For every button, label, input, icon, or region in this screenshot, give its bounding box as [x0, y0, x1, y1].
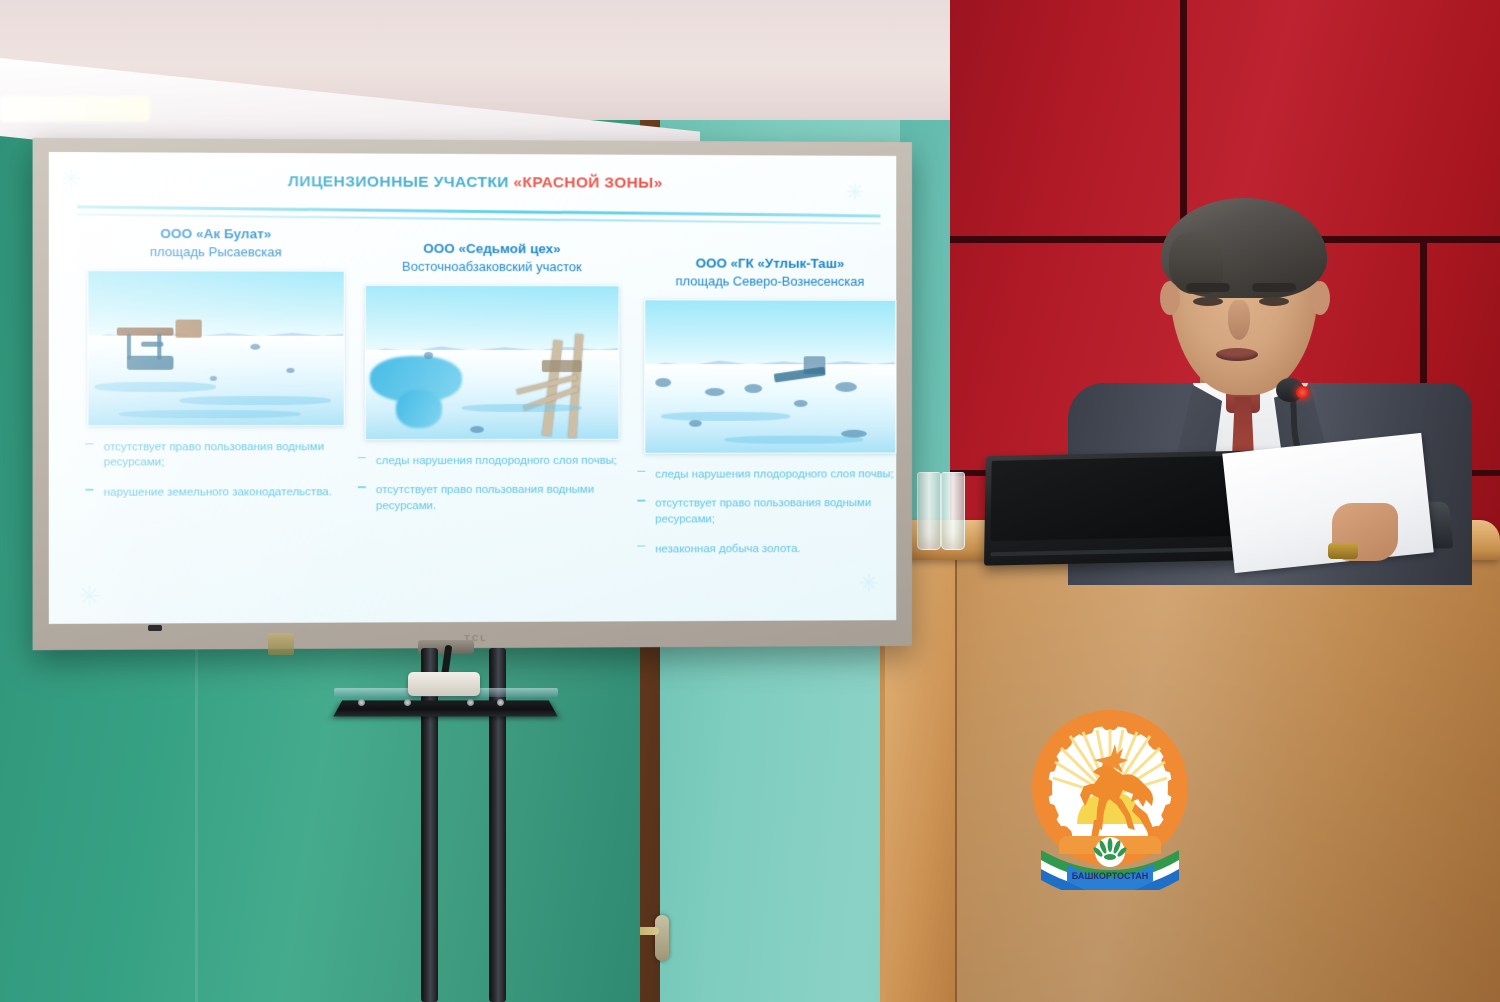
shelf-screw — [497, 699, 504, 706]
door-handle[interactable] — [655, 915, 669, 961]
bullet-text: отсутствует право пользования водными ре… — [655, 498, 871, 526]
stand-shelf — [333, 700, 557, 716]
slide-columns: ООО «Ак Булат» площадь Рысаевская — [49, 225, 896, 624]
column-heading: ООО «Седьмой цех» Восточноабзаковский уч… — [352, 240, 632, 276]
bullet-item: незаконная добыча золота. — [635, 541, 896, 557]
site-photo — [644, 299, 896, 454]
site-name: Восточноабзаковский участок — [352, 257, 632, 275]
media-device[interactable] — [408, 672, 480, 696]
eyebrow-right — [1252, 283, 1296, 292]
bullet-text: отсутствует право пользования водными ре… — [376, 484, 594, 512]
slide-column-3: ООО «ГК «Утлык-Таш» площадь Северо-Возне… — [631, 227, 896, 572]
bullet-text: следы нарушения плодородного слоя почвы; — [655, 468, 894, 480]
nose — [1228, 300, 1250, 340]
wall-plate — [268, 633, 294, 655]
bullet-dash-icon — [85, 443, 93, 445]
coat-of-arms-bashkortostan: БАШКОРТОСТАН — [1015, 700, 1205, 890]
shelf-screw — [467, 699, 474, 706]
eye-left — [1193, 297, 1223, 306]
bullet-dash-icon — [637, 545, 645, 547]
drinking-glass[interactable] — [941, 472, 965, 550]
slide-column-1: ООО «Ак Булат» площадь Рысаевская — [79, 225, 352, 516]
bullet-text: следы нарушения плодородного слоя почвы; — [376, 455, 617, 467]
bullet-item: нарушение земельного законодательства. — [83, 485, 345, 501]
slide-title: ЛИЦЕНЗИОННЫЕ УЧАСТКИ «КРАСНОЙ ЗОНЫ» — [49, 172, 896, 193]
site-photo — [364, 285, 619, 440]
bullet-item: отсутствует право пользования водными ре… — [83, 440, 345, 471]
site-name: площадь Рысаевская — [79, 243, 352, 261]
bullet-dash-icon — [637, 500, 645, 502]
bullet-list: следы нарушения плодородного слоя почвы;… — [356, 454, 626, 515]
column-heading: ООО «ГК «Утлык-Таш» площадь Северо-Возне… — [631, 254, 896, 289]
emblem-ribbon-text: БАШКОРТОСТАН — [1072, 871, 1149, 881]
microphone-led-indicator — [1296, 386, 1309, 399]
wall-hook — [148, 625, 162, 631]
bullet-list: отсутствует право пользования водными ре… — [83, 440, 345, 501]
wristwatch — [1328, 543, 1358, 559]
column-heading: ООО «Ак Булат» площадь Рысаевская — [79, 225, 352, 261]
eye-right — [1259, 297, 1289, 306]
slide-content: ЛИЦЕНЗИОННЫЕ УЧАСТКИ «КРАСНОЙ ЗОНЫ» ООО … — [49, 152, 896, 624]
slide-title-accent: «КРАСНОЙ ЗОНЫ» — [513, 174, 662, 192]
site-name: площадь Северо-Вознесенская — [631, 272, 896, 290]
conference-hall-scene: БАШКОРТОСТАН — [0, 0, 1500, 1002]
bullet-list: следы нарушения плодородного слоя почвы;… — [635, 467, 896, 557]
bullet-item: следы нарушения плодородного слоя почвы; — [356, 454, 626, 470]
shelf-screw — [404, 699, 411, 706]
bullet-text: нарушение земельного законодательства. — [104, 486, 332, 498]
bullet-dash-icon — [637, 471, 645, 473]
mouth — [1216, 348, 1258, 361]
company-name: ООО «ГК «Утлык-Таш» — [631, 254, 896, 272]
slide-column-2: ООО «Седьмой цех» Восточноабзаковский уч… — [352, 226, 632, 529]
eyebrow-left — [1186, 283, 1230, 292]
presentation-display[interactable]: ЛИЦЕНЗИОННЫЕ УЧАСТКИ «КРАСНОЙ ЗОНЫ» ООО … — [33, 138, 912, 650]
bullet-text: отсутствует право пользования водными ре… — [104, 441, 324, 469]
bullet-dash-icon — [358, 487, 366, 489]
site-photo — [87, 270, 344, 426]
bullet-item: отсутствует право пользования водными ре… — [635, 497, 896, 528]
hair — [1161, 198, 1327, 298]
bullet-dash-icon — [85, 489, 93, 491]
company-name: ООО «Ак Булат» — [79, 225, 352, 244]
slide-title-main: ЛИЦЕНЗИОННЫЕ УЧАСТКИ — [288, 173, 513, 191]
bullet-text: незаконная добыча золота. — [655, 543, 800, 555]
bullet-item: следы нарушения плодородного слоя почвы; — [635, 467, 896, 483]
bullet-dash-icon — [358, 457, 366, 459]
shelf-screw — [358, 699, 365, 706]
company-name: ООО «Седьмой цех» — [352, 240, 632, 259]
bullet-item: отсутствует право пользования водными ре… — [356, 483, 626, 515]
ceiling-light-fixture — [0, 96, 150, 122]
ear-right — [1310, 281, 1330, 315]
drinking-glass[interactable] — [917, 472, 941, 550]
